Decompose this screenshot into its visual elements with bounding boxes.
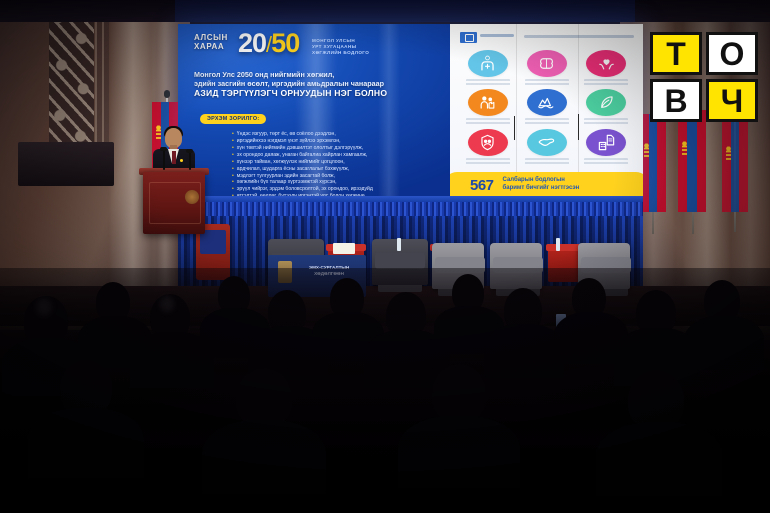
mission-bullet: Үндэс язгуур, төрт ёс, өв соёлоо дээдлэн… — [232, 131, 450, 138]
audience-shoulders-front — [28, 408, 144, 478]
ornamental-panel-left-2 — [95, 18, 109, 148]
vision-logo: АЛСЫН ХАРАА — [194, 34, 228, 51]
microphone-stem-2 — [189, 152, 191, 170]
year-suffix: 50 — [271, 28, 299, 58]
mission-bullet: ардчилал, шударга ёсны засаглалыг бэхжүү… — [232, 166, 450, 173]
vision-year: 20/50 — [238, 30, 299, 58]
sector-cell — [458, 129, 517, 168]
flag-right-3 — [722, 118, 748, 212]
mission-bullet: хүн төвтэй нийгмийн дэвшилтэт ололтыг дэ… — [232, 145, 450, 152]
mountain-landscape-icon — [527, 89, 567, 116]
mission-badge: ЭРХЭМ ЗОРИЛГО: — [200, 114, 266, 124]
tv-logo-letter-1: Т — [650, 32, 702, 75]
sector-cell — [577, 89, 636, 128]
projection-screen: АЛСЫН ХАРАА 20/50 МОНГОЛ УЛСЫН УРТ ХУГАЦ… — [178, 24, 643, 202]
tv-logo-letter-4: Ч — [706, 79, 758, 122]
side-desk — [18, 142, 114, 186]
sector-cell — [458, 89, 517, 128]
sector-cell — [517, 89, 576, 128]
podium-emblem-icon — [185, 190, 199, 204]
audience-shoulders — [684, 316, 764, 370]
sector-icon-grid — [458, 50, 636, 168]
name-card-1 — [333, 243, 355, 254]
leaf-nature-icon — [586, 89, 626, 116]
vision-logo-line2: ХАРАА — [194, 43, 228, 52]
map-mongolia-icon — [527, 129, 567, 156]
audience-shoulders — [484, 324, 564, 378]
audience-shoulders-front — [398, 416, 520, 488]
sector-caption — [584, 118, 628, 125]
tv-logo-letter-2: О — [706, 32, 758, 75]
ribbon-line1: Салбарын бодлогын — [503, 177, 580, 185]
tv-channel-logo: Т О В Ч — [650, 32, 758, 122]
sector-cell — [517, 129, 576, 168]
documents-city-icon — [586, 129, 626, 156]
mission-bullet: мэдлэгт тулгуурлан эдийн засагтай болж, — [232, 173, 450, 180]
speaker-tie — [172, 151, 176, 164]
sector-caption — [525, 79, 569, 86]
audience-head-front — [236, 368, 292, 428]
water-bottle-1 — [397, 238, 401, 251]
brain-icon — [527, 50, 567, 77]
ribbon-text: Салбарын бодлогын баримт бичгийг нэгтгэс… — [503, 177, 580, 192]
sector-caption — [525, 118, 569, 125]
microphone-head-2 — [186, 149, 193, 153]
ribbon-banner: 567 Салбарын бодлогын баримт бичгийг нэг… — [450, 172, 643, 198]
sector-caption — [466, 118, 510, 125]
slide-left-panel: АЛСЫН ХАРАА 20/50 МОНГОЛ УЛСЫН УРТ ХУГАЦ… — [178, 24, 450, 202]
flag-right-1 — [640, 114, 666, 212]
flag-finial-l1 — [164, 90, 170, 98]
sector-caption — [466, 79, 510, 86]
screen-glare-1 — [296, 24, 336, 202]
mission-bullet: эрүүл чийрэг, эрдэм боловсролтой, эх оро… — [232, 186, 450, 193]
audience-shoulders-front — [202, 420, 326, 494]
slide-org-logo-icon — [460, 32, 477, 43]
sector-caption — [525, 158, 569, 165]
sector-cell — [458, 50, 517, 89]
pointer-line-1 — [514, 116, 515, 140]
sector-cell — [577, 129, 636, 168]
slide-right-panel: 567 Салбарын бодлогын баримт бичгийг нэг… — [450, 24, 643, 202]
speaker-lapel-pin — [180, 159, 183, 162]
ceiling-band-blue — [175, 0, 635, 22]
sector-caption — [466, 158, 510, 165]
ribbon-number: 567 — [470, 177, 494, 194]
mission-bullet: эх орондоо даяаж, унаган байгалиа хайрла… — [232, 152, 450, 159]
audience-head-highlight — [36, 298, 52, 316]
audience-head-highlight — [160, 296, 174, 312]
sector-caption — [584, 158, 628, 165]
sector-cell — [517, 50, 576, 89]
audience-head-front — [432, 364, 486, 422]
mission-bullet: хүнээр тайван, хөгжүүлэх нийгмийг цогцло… — [232, 159, 450, 166]
microphone-stem-1 — [163, 150, 165, 170]
year-prefix: 20 — [238, 28, 266, 58]
sector-caption — [584, 79, 628, 86]
column-1 — [110, 0, 156, 300]
water-bottle-2 — [556, 238, 560, 251]
screen-glare-2 — [378, 24, 400, 202]
tv-logo-letter-3: В — [650, 79, 702, 122]
heart-in-hands-icon — [586, 50, 626, 77]
conference-photo: АЛСЫН ХАРАА 20/50 МОНГОЛ УЛСЫН УРТ ХУГАЦ… — [0, 0, 770, 513]
audience-head-front — [628, 370, 684, 430]
ribbon-line2: баримт бичгийг нэгтгэсэн — [503, 185, 580, 193]
shield-family-icon — [468, 129, 508, 156]
industry-people-icon — [468, 89, 508, 116]
mission-bullet: хөгжлийн бүх талаар хүртээмжтэй хүрсэн, — [232, 179, 450, 186]
audience-shoulders-front — [596, 422, 722, 496]
mission-bullet: иргэдийнхээ нэгдмэл үнэт зүйлээ эрхэмлэн… — [232, 138, 450, 145]
microphone-head-1 — [160, 147, 167, 151]
family-health-icon — [468, 50, 508, 77]
ornamental-panel-left — [49, 0, 94, 148]
flag-right-2 — [678, 110, 706, 212]
pointer-line-2 — [578, 114, 579, 140]
podium — [143, 172, 205, 234]
audience — [0, 268, 770, 513]
slide-org-name — [480, 34, 514, 37]
slide-right-title — [524, 35, 634, 38]
sector-cell — [577, 50, 636, 89]
